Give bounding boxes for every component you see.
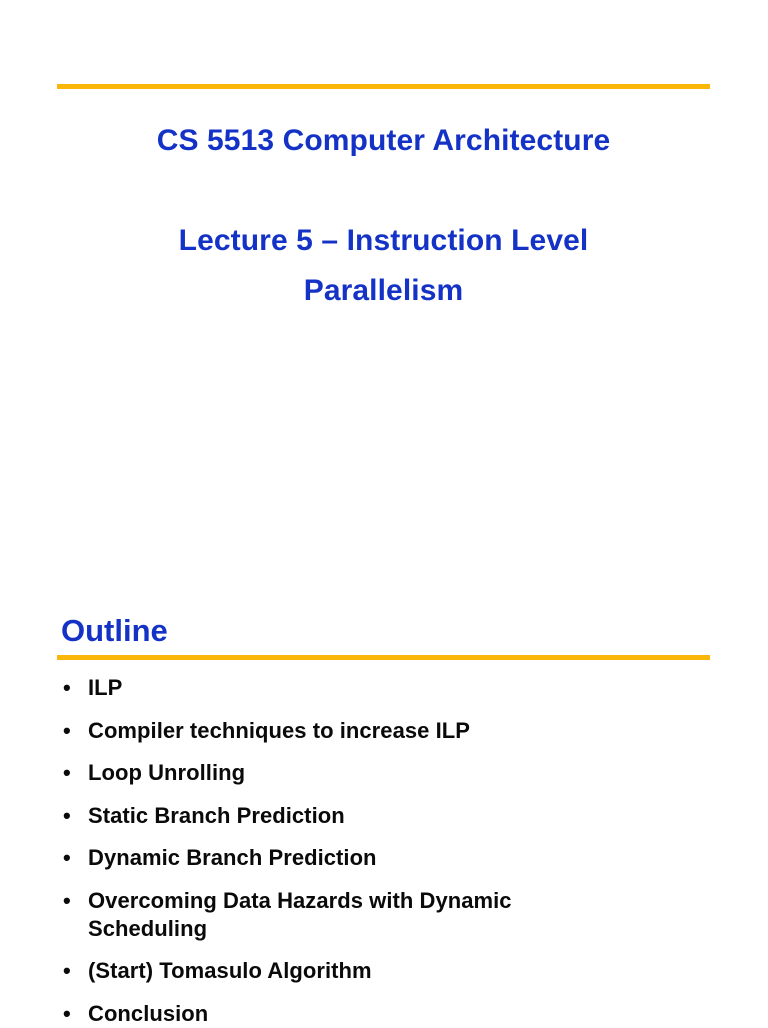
- lecture-title-line-2: Parallelism: [57, 266, 710, 316]
- list-item: • Overcoming Data Hazards with Dynamic S…: [57, 887, 618, 943]
- list-item: • Conclusion: [57, 1000, 657, 1028]
- bullet-dot-icon: •: [63, 674, 75, 702]
- bullet-dot-icon: •: [63, 887, 75, 915]
- bullet-dot-icon: •: [63, 717, 75, 745]
- bullet-dot-icon: •: [63, 802, 75, 830]
- lecture-title-line-1: Lecture 5 – Instruction Level: [57, 216, 710, 266]
- list-item-label: Conclusion: [88, 1000, 657, 1028]
- list-item-label: Compiler techniques to increase ILP: [88, 717, 657, 745]
- outline-heading: Outline: [61, 612, 168, 650]
- list-item: • Dynamic Branch Prediction: [57, 844, 657, 872]
- bullet-dot-icon: •: [63, 957, 75, 985]
- bullet-dot-icon: •: [63, 1000, 75, 1028]
- lecture-title: Lecture 5 – Instruction Level Parallelis…: [57, 164, 710, 316]
- list-item-label: Dynamic Branch Prediction: [88, 844, 657, 872]
- list-item-label: (Start) Tomasulo Algorithm: [88, 957, 657, 985]
- bullet-dot-icon: •: [63, 844, 75, 872]
- list-item: • Static Branch Prediction: [57, 802, 657, 830]
- outline-slide: Outline • ILP • Compiler techniques to i…: [0, 600, 768, 1024]
- list-item: • Compiler techniques to increase ILP: [57, 717, 657, 745]
- list-item-label: Loop Unrolling: [88, 759, 657, 787]
- outline-bullet-list: • ILP • Compiler techniques to increase …: [57, 674, 657, 1028]
- list-item: • (Start) Tomasulo Algorithm: [57, 957, 657, 985]
- list-item-label: Static Branch Prediction: [88, 802, 657, 830]
- course-title: CS 5513 Computer Architecture: [57, 118, 710, 164]
- slide-page: CS 5513 Computer Architecture Lecture 5 …: [0, 0, 768, 1024]
- title-slide: CS 5513 Computer Architecture Lecture 5 …: [0, 0, 768, 600]
- bullet-dot-icon: •: [63, 759, 75, 787]
- list-item: • ILP: [57, 674, 657, 702]
- list-item-label: ILP: [88, 674, 657, 702]
- title-block: CS 5513 Computer Architecture Lecture 5 …: [57, 118, 710, 316]
- list-item: • Loop Unrolling: [57, 759, 657, 787]
- gold-divider-outline: [57, 655, 710, 660]
- gold-divider-top: [57, 84, 710, 89]
- list-item-label: Overcoming Data Hazards with Dynamic Sch…: [88, 887, 618, 943]
